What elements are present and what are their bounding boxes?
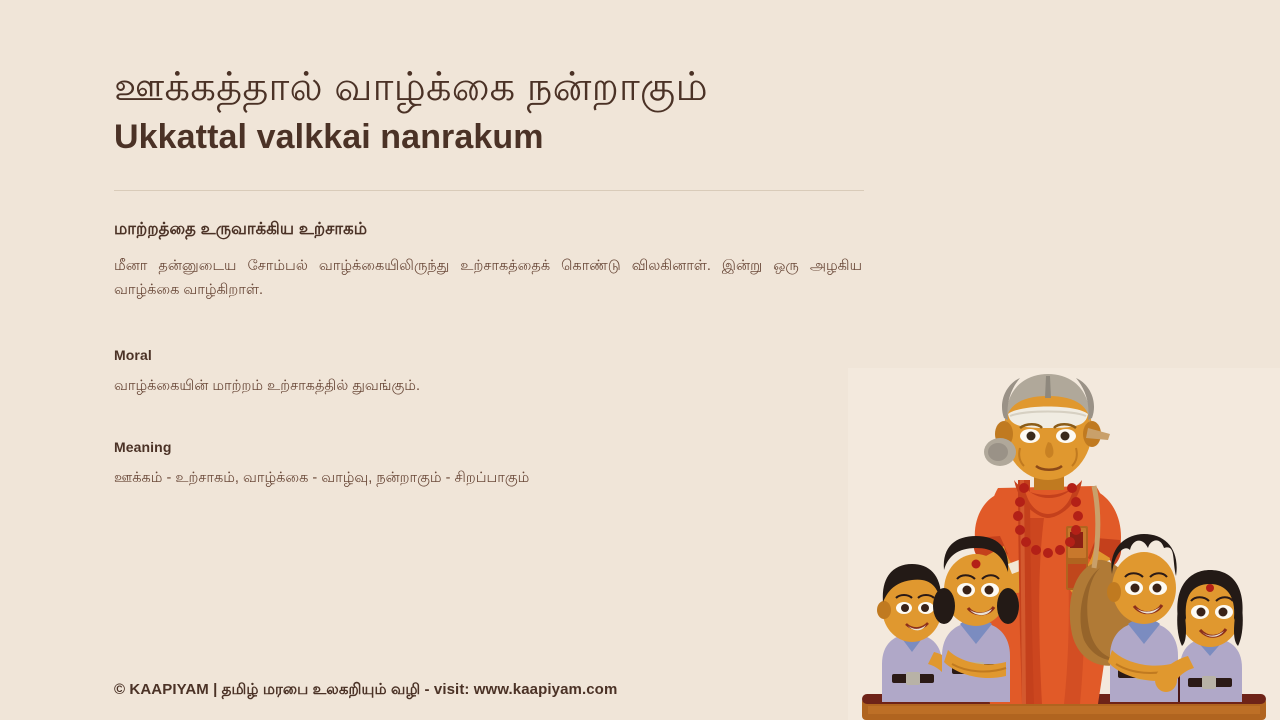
moral-block: Moral வாழ்க்கையின் மாற்றம் உற்சாகத்தில் … [114, 347, 874, 398]
header-divider [114, 190, 864, 191]
child-far-left [877, 564, 967, 702]
meaning-block: Meaning ஊக்கம் - உற்சாகம், வாழ்க்கை - வா… [114, 439, 874, 490]
page-title-tamil: ஊக்கத்தால் வாழ்க்கை நன்றாகும் [114, 64, 874, 111]
children-trousers [884, 646, 1240, 702]
footer-credit: © KAAPIYAM | தமிழ் மரபை உலகறியும் வழி - … [114, 681, 617, 700]
elderly-woman-figure [974, 374, 1144, 704]
child-far-right-girl [1155, 570, 1243, 702]
wooden-bench [862, 694, 1266, 720]
story-heading: மாற்றத்தை உருவாக்கிய உற்சாகம் [114, 220, 874, 241]
child-right-boy [1107, 534, 1178, 702]
story-body-text: மீனா தன்னுடைய சோம்பல் வாழ்க்கையிலிருந்து… [114, 254, 862, 303]
child-left-girl [933, 536, 1019, 702]
meaning-text: ஊக்கம் - உற்சாகம், வாழ்க்கை - வாழ்வு, நன… [114, 467, 874, 490]
prayer-beads [1013, 483, 1083, 558]
page-title-transliteration: Ukkattal valkkai nanrakum [114, 117, 874, 158]
elderly-woman-with-children-illustration [848, 368, 1280, 720]
proverb-card: ஊக்கத்தால் வாழ்க்கை நன்றாகும் Ukkattal v… [0, 0, 1280, 720]
meaning-label: Meaning [114, 439, 874, 455]
content-column: ஊக்கத்தால் வாழ்க்கை நன்றாகும் Ukkattal v… [114, 64, 874, 490]
moral-text: வாழ்க்கையின் மாற்றம் உற்சாகத்தில் துவங்க… [114, 375, 874, 398]
moral-label: Moral [114, 347, 874, 363]
cloth-sack [1070, 486, 1144, 666]
